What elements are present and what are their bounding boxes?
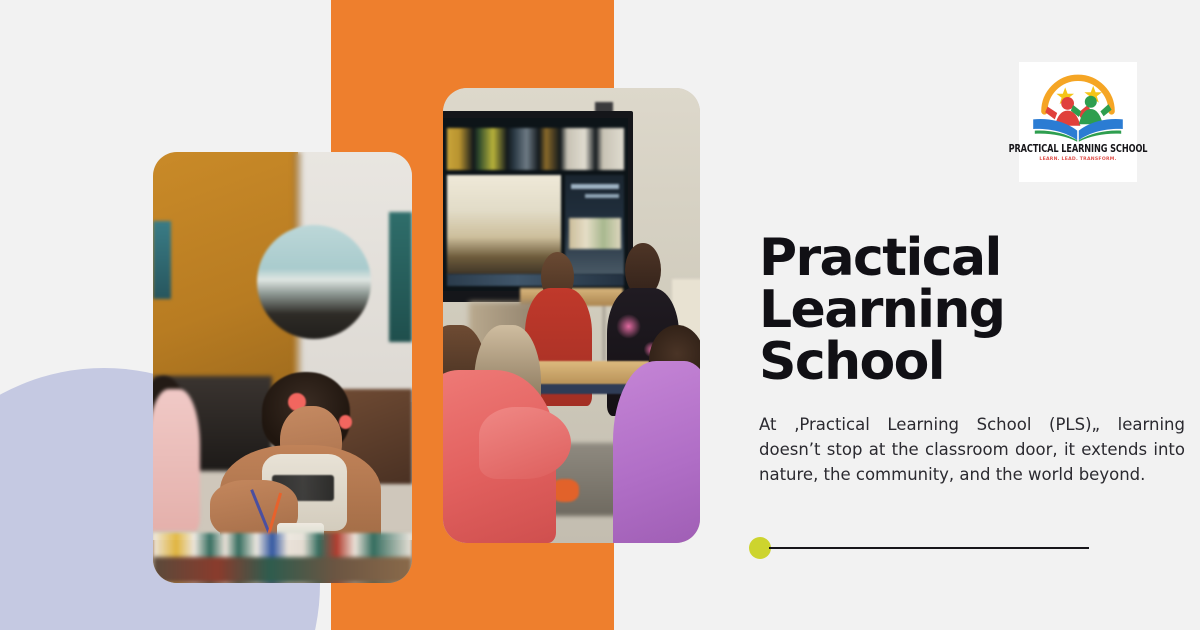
student-purple-shirt — [613, 361, 700, 543]
page-title: Practical Learning School — [759, 232, 1185, 388]
art-supplies-foreground — [153, 557, 412, 583]
photo-art-class-image — [153, 152, 412, 583]
logo-badge[interactable]: PRACTICAL LEARNING SCHOOL LEARN. LEAD. T… — [1019, 62, 1137, 182]
accent-rule — [749, 537, 1089, 559]
logo-title: PRACTICAL LEARNING SCHOOL — [1009, 142, 1148, 155]
presentation-screen — [443, 118, 628, 291]
school-emblem-icon — [1030, 68, 1126, 142]
accent-dot — [749, 537, 771, 559]
content-column: Practical Learning School At ‚Practical … — [759, 232, 1185, 388]
teal-panel-left — [153, 221, 171, 299]
photo-art-class — [153, 152, 412, 583]
screen-side-text-line-2 — [585, 194, 618, 198]
logo-tagline: LEARN. LEAD. TRANSFORM. — [1039, 157, 1116, 162]
student-coral-arm — [479, 407, 572, 480]
body-paragraph: At ‚Practical Learning School (PLS)„ lea… — [759, 412, 1185, 487]
accent-line — [769, 547, 1089, 549]
screen-toolbar — [447, 274, 625, 286]
photo-classroom-screen-image — [443, 88, 700, 543]
round-landscape-painting — [257, 225, 371, 339]
screen-side-thumbnails — [569, 218, 621, 249]
teal-panel-right — [389, 212, 412, 341]
background-child — [153, 389, 200, 531]
photo-classroom-screen — [443, 88, 700, 543]
screen-side-text-line-1 — [571, 184, 619, 189]
screen-thumbnail-row — [447, 128, 625, 169]
poster-canvas: PRACTICAL LEARNING SCHOOL LEARN. LEAD. T… — [0, 0, 1200, 630]
